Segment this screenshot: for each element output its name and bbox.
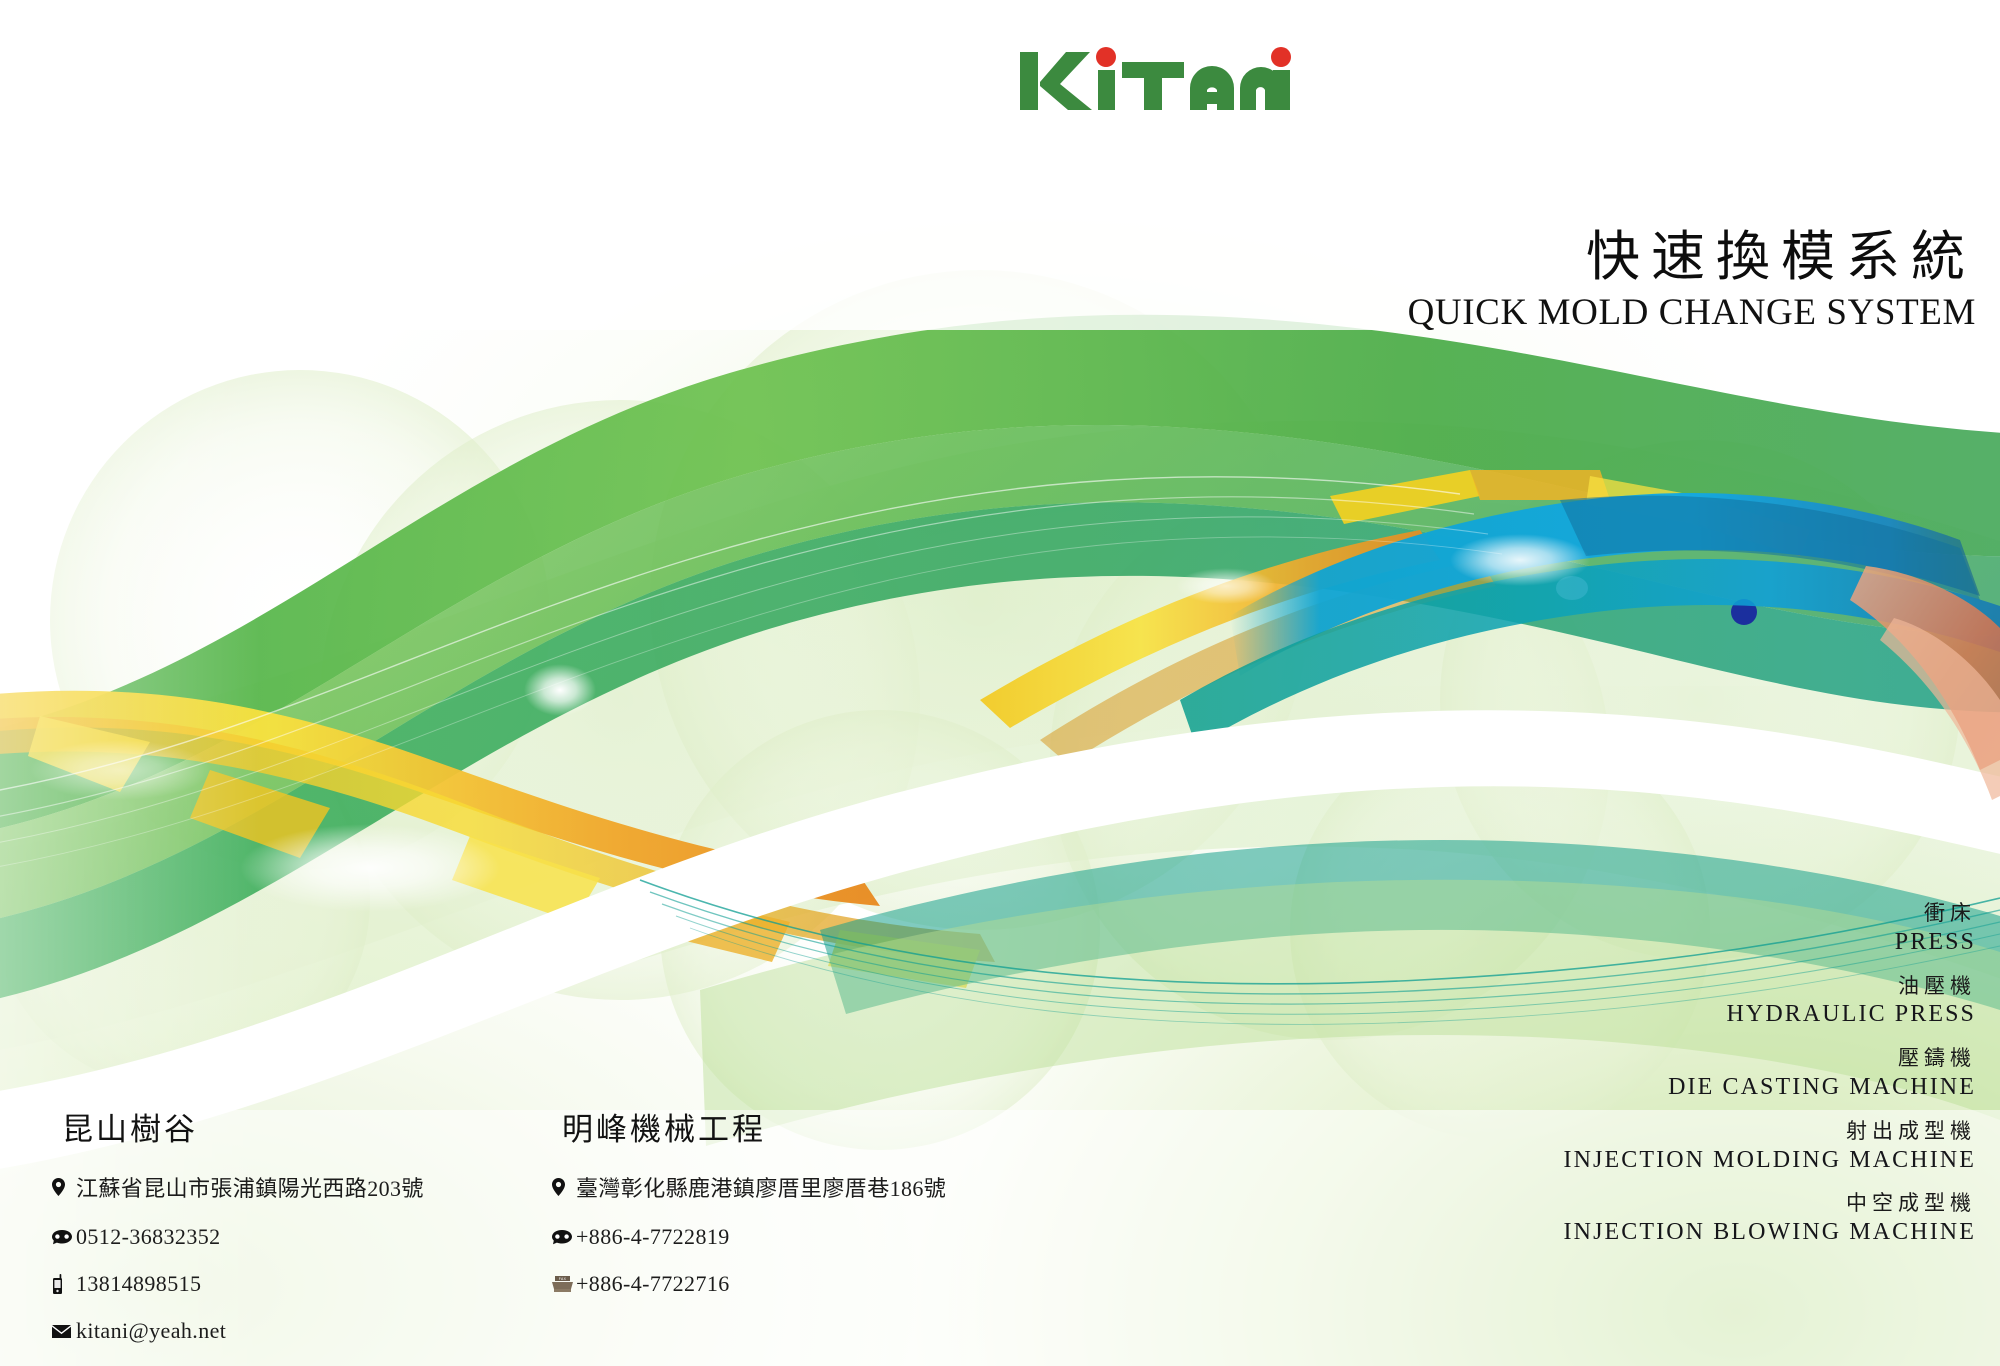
envelope-icon: [52, 1325, 76, 1338]
machine-label-en: PRESS: [1564, 927, 1976, 958]
contact-mobile-line: 13814898515: [52, 1271, 552, 1297]
cyan-band-deep: [1560, 496, 1980, 600]
yellow-shard: [1330, 470, 1480, 524]
machine-label-en: INJECTION BLOWING MACHINE: [1564, 1217, 1976, 1248]
yellow-arc-center-2: [1040, 560, 1496, 764]
machine-label-en: INJECTION MOLDING MACHINE: [1564, 1145, 1976, 1176]
machine-item-injection-blowing-machine: 中空成型機 INJECTION BLOWING MACHINE: [1564, 1190, 1976, 1248]
contact-address-line: 臺灣彰化縣鹿港鎮廖厝里廖厝巷186號: [552, 1171, 1052, 1203]
page-title-block: 快速換模系統 QUICK MOLD CHANGE SYSTEM: [1408, 228, 1976, 336]
orange-shard: [1692, 498, 1810, 556]
contact-address-line: 江蘇省昆山市張浦鎮陽光西路203號: [52, 1171, 552, 1203]
contact-column-mingfeng: 明峰機械工程 臺灣彰化縣鹿港鎮廖厝里廖厝巷186號 +886-4-7722819…: [552, 1104, 1052, 1344]
yellow-facet: [624, 886, 790, 962]
yellow-shard: [1586, 476, 1720, 528]
location-pin-icon: [52, 1178, 76, 1196]
yellow-streak-left-2: [0, 717, 995, 962]
yellow-shard: [1470, 470, 1610, 500]
blue-dot-accent: [1731, 599, 1757, 625]
machine-item-die-casting-machine: 壓鑄機 DIE CASTING MACHINE: [1564, 1045, 1976, 1103]
machine-item-press: 衝床 PRESS: [1564, 900, 1976, 958]
green-ribbon-second: [0, 425, 2000, 930]
contact-telephone-line: 0512-36832352: [52, 1224, 552, 1250]
green-ribbon-main: [0, 315, 2000, 840]
salmon-accent: [1850, 566, 2000, 770]
contact-office-name: 明峰機械工程: [562, 1104, 1052, 1149]
machine-label-cn: 衝床: [1564, 900, 1976, 927]
glow-spark: [524, 664, 596, 716]
bubble: [1440, 440, 1960, 960]
glow-spark: [1450, 534, 1590, 586]
contact-telephone-line: +886-4-7722819: [552, 1224, 1052, 1250]
machine-label-cn: 中空成型機: [1564, 1190, 1976, 1217]
bubble: [660, 710, 1100, 1150]
kitani-logo-svg: [1020, 44, 1292, 114]
contact-telephone-text: +886-4-7722819: [576, 1224, 730, 1250]
svg-text:FAX: FAX: [559, 1277, 567, 1281]
yellow-facet: [190, 770, 330, 858]
machine-type-list: 衝床 PRESS 油壓機 HYDRAULIC PRESS 壓鑄機 DIE CAS…: [1564, 900, 1976, 1248]
yellow-facet: [28, 716, 150, 792]
glow-spark: [1176, 568, 1276, 604]
contact-mobile-text: 13814898515: [76, 1271, 201, 1297]
machine-label-en: HYDRAULIC PRESS: [1564, 999, 1976, 1030]
contact-address-text: 臺灣彰化縣鹿港鎮廖厝里廖厝巷186號: [576, 1171, 946, 1203]
machine-label-cn: 油壓機: [1564, 973, 1976, 1000]
machine-item-injection-molding-machine: 射出成型機 INJECTION MOLDING MACHINE: [1564, 1118, 1976, 1176]
yellow-facet: [828, 930, 980, 988]
contact-address-text: 江蘇省昆山市張浦鎮陽光西路203號: [76, 1171, 424, 1203]
bubble: [1050, 480, 1610, 1040]
contact-email-text[interactable]: kitani@yeah.net: [76, 1318, 226, 1344]
kitani-logo[interactable]: [1020, 48, 1292, 114]
bubble: [320, 400, 920, 1000]
contact-block: 昆山樹谷 江蘇省昆山市張浦鎮陽光西路203號 0512-36832352 138…: [52, 1104, 1052, 1344]
yellow-arc-center: [980, 530, 1440, 728]
contact-column-kunshan: 昆山樹谷 江蘇省昆山市張浦鎮陽光西路203號 0512-36832352 138…: [52, 1104, 552, 1344]
bubble: [50, 370, 550, 870]
machine-label-cn: 射出成型機: [1564, 1118, 1976, 1145]
cyan-band: [1230, 493, 1980, 676]
machine-item-hydraulic-press: 油壓機 HYDRAULIC PRESS: [1564, 973, 1976, 1031]
machine-label-en: DIE CASTING MACHINE: [1564, 1072, 1976, 1103]
mobile-phone-icon: [52, 1274, 76, 1294]
glow-spark: [240, 824, 500, 912]
light-filament-lines: [0, 477, 1502, 876]
teal-ribbon: [1180, 559, 2000, 746]
telephone-icon: [552, 1230, 576, 1245]
salmon-accent-2: [1880, 618, 2000, 800]
yellow-streak-left: [0, 691, 880, 906]
bubble: [0, 710, 370, 1090]
machine-label-cn: 壓鑄機: [1564, 1045, 1976, 1072]
poster-page: 快速換模系統 QUICK MOLD CHANGE SYSTEM 衝床 PRESS…: [0, 0, 2000, 1366]
location-pin-icon: [552, 1178, 576, 1196]
page-title-cn: 快速換模系統: [1408, 228, 1976, 286]
contact-fax-text: +886-4-7722716: [576, 1271, 730, 1297]
glow-spark: [30, 740, 210, 800]
contact-email-line: kitani@yeah.net: [52, 1318, 552, 1344]
contact-office-name: 昆山樹谷: [62, 1104, 552, 1149]
telephone-icon: [52, 1230, 76, 1245]
contact-telephone-text: 0512-36832352: [76, 1224, 221, 1250]
page-title-en: QUICK MOLD CHANGE SYSTEM: [1408, 291, 1976, 335]
cyan-highlight-spark: [1556, 576, 1588, 600]
yellow-facet: [452, 836, 600, 922]
contact-fax-line: FAX +886-4-7722716: [552, 1271, 1052, 1297]
fax-icon: FAX: [552, 1276, 576, 1292]
bubble: [650, 270, 1310, 930]
